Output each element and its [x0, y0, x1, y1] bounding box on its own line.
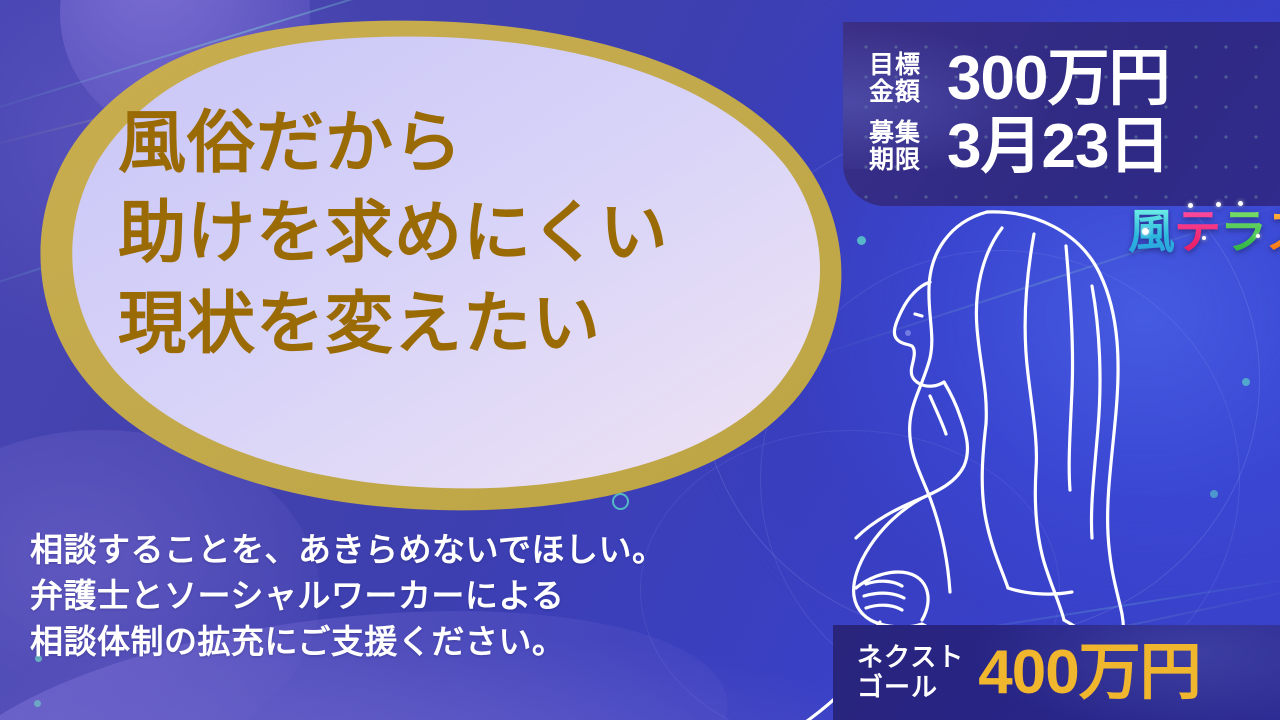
- goal-panel: 目標 金額 300万円 募集 期限 3月23日: [843, 22, 1280, 206]
- next-goal-badge: ネクスト ゴール 400万円: [833, 625, 1280, 720]
- body-copy: 相談することを、あきらめないでほしい。 弁護士とソーシャルワーカーによる 相談体…: [30, 527, 750, 666]
- target-amount-value: 300万円: [947, 48, 1169, 110]
- futerasu-logo[interactable]: 風 テ ラ ス: [1128, 208, 1280, 255]
- deadline-value: 3月23日: [947, 116, 1169, 178]
- logo-sparkle-icon: [1202, 236, 1206, 240]
- target-amount-label: 目標 金額: [869, 52, 933, 106]
- logo-char-te: テ: [1174, 208, 1220, 255]
- next-goal-value: 400万円: [978, 642, 1200, 704]
- logo-char-ra: ラ: [1220, 208, 1266, 255]
- decorative-dot: [34, 700, 41, 707]
- logo-sparkle-icon: [1256, 234, 1260, 238]
- deadline-row: 募集 期限 3月23日: [869, 116, 1266, 178]
- logo-char-kaze: 風: [1128, 208, 1174, 255]
- deadline-label: 募集 期限: [869, 120, 933, 174]
- logo-sparkle-icon: [1238, 201, 1243, 206]
- logo-sparkle-icon: [1216, 202, 1221, 207]
- logo-sparkle-icon: [1188, 203, 1193, 208]
- campaign-banner: 風俗だから 助けを求めにくい 現状を変えたい: [0, 0, 1280, 720]
- target-amount-row: 目標 金額 300万円: [869, 48, 1266, 110]
- logo-sparkle-icon: [1142, 228, 1149, 235]
- logo-char-su: ス: [1266, 208, 1280, 255]
- next-goal-label: ネクスト ゴール: [857, 643, 964, 701]
